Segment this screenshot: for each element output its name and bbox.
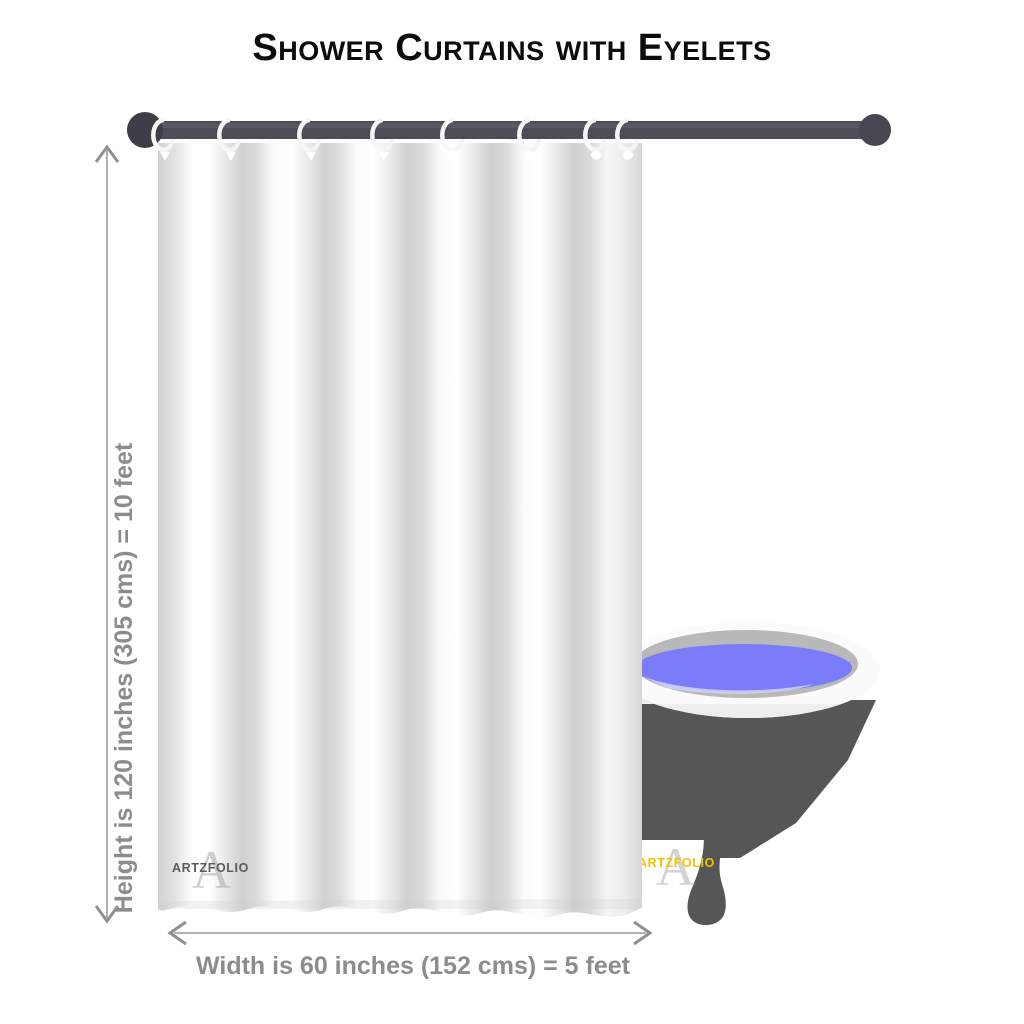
bathtub-body xyxy=(620,700,876,858)
curtain-eyelet-icon xyxy=(306,152,316,161)
width-dimension-label: Width is 60 inches (152 cms) = 5 feet xyxy=(120,952,706,981)
curtain-eyelet-icon xyxy=(379,152,389,161)
curtain-eyelet-icon xyxy=(591,151,601,160)
shower-curtain: A ARTZFOLIO xyxy=(158,143,642,925)
curtain-rod-highlight xyxy=(146,123,874,128)
product-dimension-diagram: Shower Curtains with Eyelets A ARTZFOLIO xyxy=(0,0,1024,1024)
bathtub-svg xyxy=(600,608,900,938)
bathtub-illustration: A ARTZFOLIO xyxy=(600,608,900,938)
curtain-eyelet-icon xyxy=(525,151,535,160)
width-dimension xyxy=(160,918,660,950)
width-arrow xyxy=(160,918,660,950)
height-dimension: Height is 120 inches (305 cms) = 10 feet xyxy=(0,140,140,930)
bathtub-foot xyxy=(688,836,727,925)
curtain-eyelet-icon xyxy=(160,152,170,161)
curtain-eyelet-icon xyxy=(226,152,236,161)
curtain-svg xyxy=(158,143,642,925)
rod-svg xyxy=(120,108,900,170)
rod-finial-right-icon xyxy=(859,114,891,146)
curtain-eyelet-icon xyxy=(623,151,633,160)
curtain-eyelet-icon xyxy=(448,151,458,160)
curtain-panel xyxy=(158,143,642,918)
page-title: Shower Curtains with Eyelets xyxy=(0,27,1024,71)
curtain-rod-assembly xyxy=(120,108,900,170)
height-dimension-label: Height is 120 inches (305 cms) = 10 feet xyxy=(107,288,141,1024)
